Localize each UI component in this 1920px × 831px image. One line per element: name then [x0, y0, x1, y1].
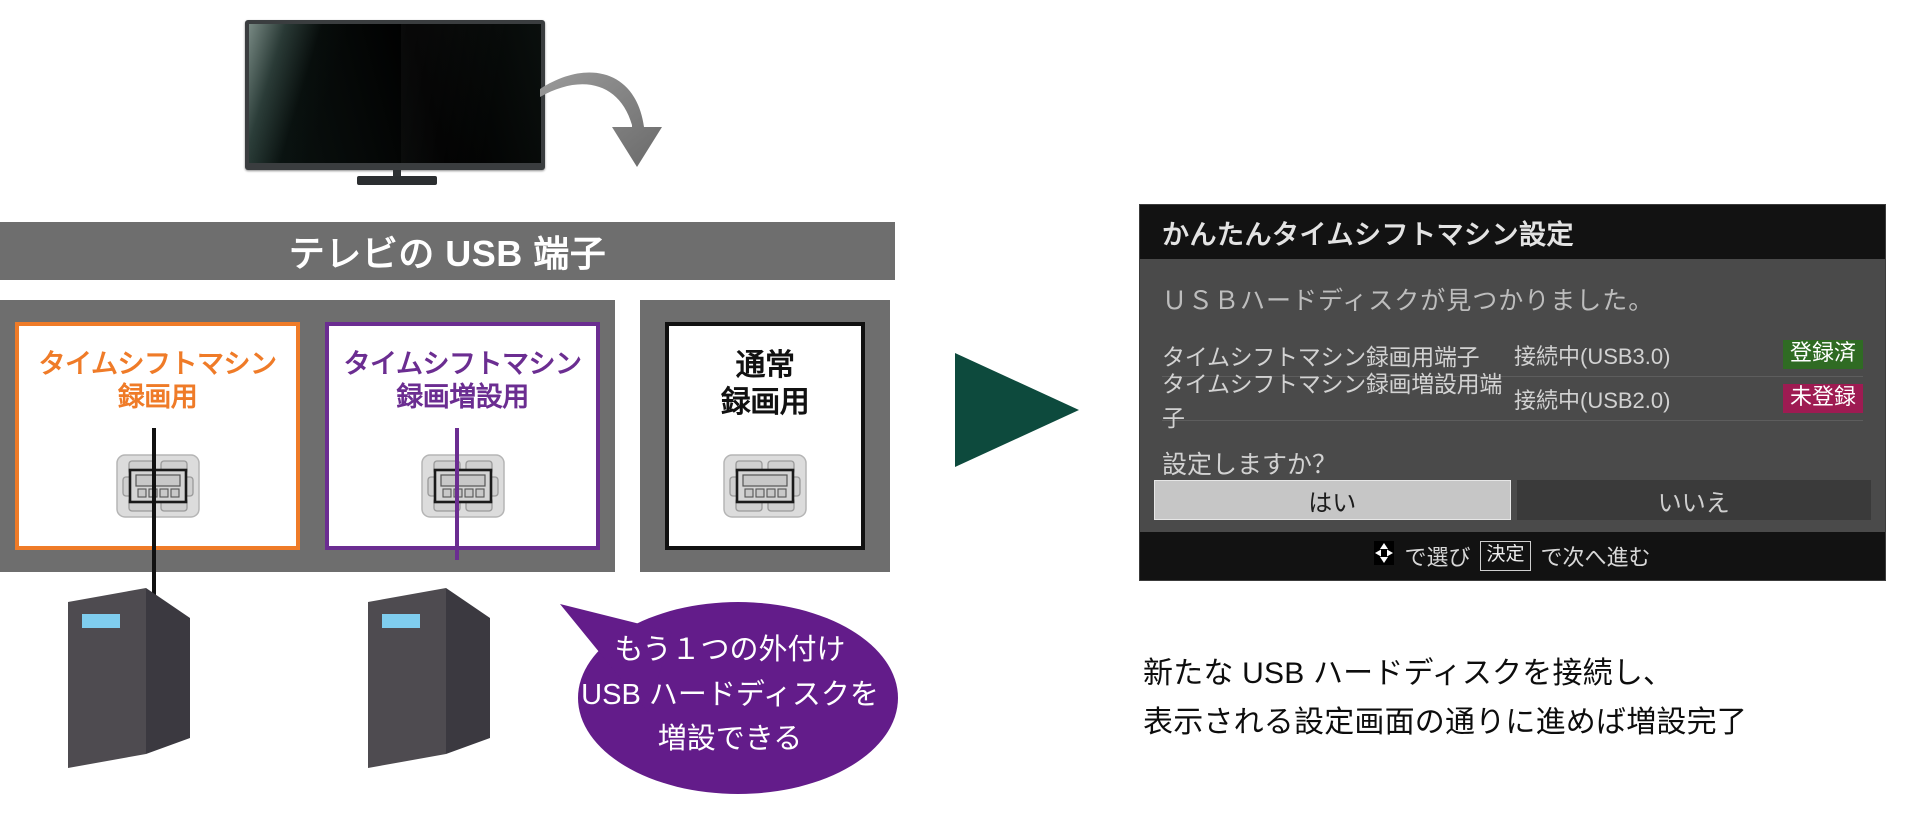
usb-cable-purple	[455, 428, 459, 560]
port-card-normal-recording[interactable]: 通常 録画用	[665, 322, 865, 550]
dialog-body: ＵＳＢハードディスクが見つかりました。 タイムシフトマシン録画用端子 接続中(U…	[1140, 259, 1885, 481]
caption-text: 新たな USB ハードディスクを接続し、 表示される設定画面の通りに進めば増設完…	[1143, 650, 1903, 747]
table-row[interactable]: タイムシフトマシン録画増設用端子 接続中(USB2.0) 未登録	[1162, 377, 1863, 421]
external-hard-disk-icon	[68, 588, 203, 773]
television-icon	[245, 20, 545, 190]
port-card-timeshift-expansion[interactable]: タイムシフトマシン 録画増設用	[325, 322, 600, 550]
status-badge: 登録済	[1783, 340, 1863, 368]
select-hint-label: で選び	[1404, 540, 1470, 572]
decide-key-label: 決定	[1480, 541, 1530, 571]
yes-button[interactable]: はい	[1154, 480, 1511, 520]
port-card-label: タイムシフトマシン 録画増設用	[329, 348, 596, 414]
external-hard-disk-icon	[368, 588, 503, 773]
port-card-timeshift-recording[interactable]: タイムシフトマシン 録画用	[15, 322, 300, 550]
tv-screen	[249, 24, 541, 163]
usb-port-icon	[722, 453, 808, 524]
normal-recording-port-group: 通常 録画用	[640, 300, 890, 572]
port-card-label: タイムシフトマシン 録画用	[19, 348, 296, 414]
port-status: 接続中(USB2.0)	[1514, 383, 1704, 415]
usb-cable-black	[152, 428, 156, 588]
found-message: ＵＳＢハードディスクが見つかりました。	[1162, 259, 1863, 333]
curved-arrow-icon	[540, 55, 670, 185]
status-badge: 未登録	[1783, 384, 1863, 412]
usb-port-icon	[420, 453, 506, 524]
tv-stand-base	[357, 176, 437, 185]
dialog-title-bar: かんたんタイムシフトマシン設定	[1140, 205, 1885, 259]
no-button[interactable]: いいえ	[1517, 480, 1872, 520]
next-hint-label: で次へ進む	[1541, 540, 1651, 572]
usb-port-icon	[115, 453, 201, 524]
tv-bezel	[245, 20, 545, 170]
port-name: タイムシフトマシン録画増設用端子	[1162, 365, 1514, 433]
callout-bubble: もう１つの外付け USB ハードディスクを 増設できる	[560, 580, 900, 810]
tv-setup-dialog: かんたんタイムシフトマシン設定 ＵＳＢハードディスクが見つかりました。 タイムシ…	[1140, 205, 1885, 580]
timeshift-port-group: タイムシフトマシン 録画用 タイムシフトマシン	[0, 300, 615, 572]
flow-arrow-right-icon	[955, 345, 1085, 475]
port-card-label: 通常 録画用	[669, 348, 861, 421]
dialog-title: かんたんタイムシフトマシン設定	[1162, 213, 1574, 252]
dialog-footer-hints: で選び 決定 で次へ進む	[1140, 532, 1885, 580]
usb-ports-header: テレビの USB 端子	[0, 222, 895, 280]
port-status: 接続中(USB3.0)	[1514, 339, 1704, 371]
dialog-button-row: はい いいえ	[1154, 480, 1871, 520]
dpad-updown-icon	[1374, 541, 1394, 571]
usb-ports-header-label: テレビの USB 端子	[289, 225, 607, 277]
